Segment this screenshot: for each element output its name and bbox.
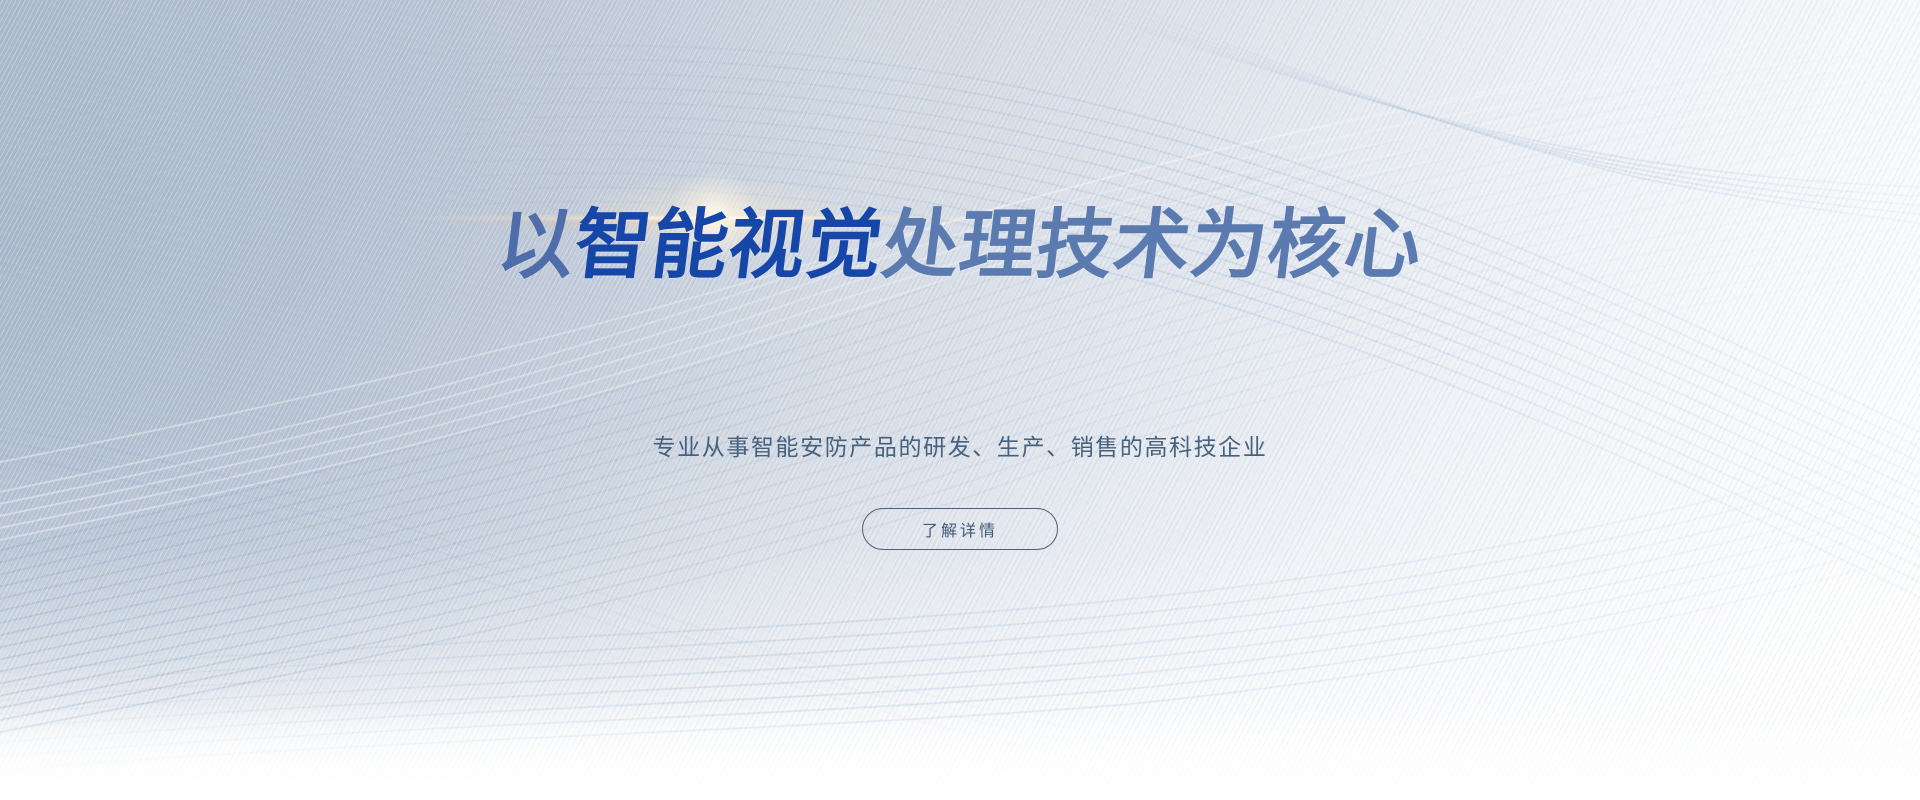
hero-banner: 以智能视觉处理技术为核心 专业从事智能安防产品的研发、生产、销售的高科技企业 了… (0, 0, 1920, 800)
headline-segment-tail: 处理技术为核心 (878, 203, 1427, 288)
page-title: 以智能视觉处理技术为核心 (0, 208, 1920, 284)
learn-more-button[interactable]: 了解详情 (862, 508, 1058, 550)
page-subtitle: 专业从事智能安防产品的研发、生产、销售的高科技企业 (0, 431, 1920, 463)
headline-segment-lead: 以 (493, 203, 580, 288)
cta-container: 了解详情 (0, 508, 1920, 550)
headline-segment-emphasis: 智能视觉 (570, 203, 888, 288)
hero-content: 以智能视觉处理技术为核心 专业从事智能安防产品的研发、生产、销售的高科技企业 了… (0, 0, 1920, 800)
